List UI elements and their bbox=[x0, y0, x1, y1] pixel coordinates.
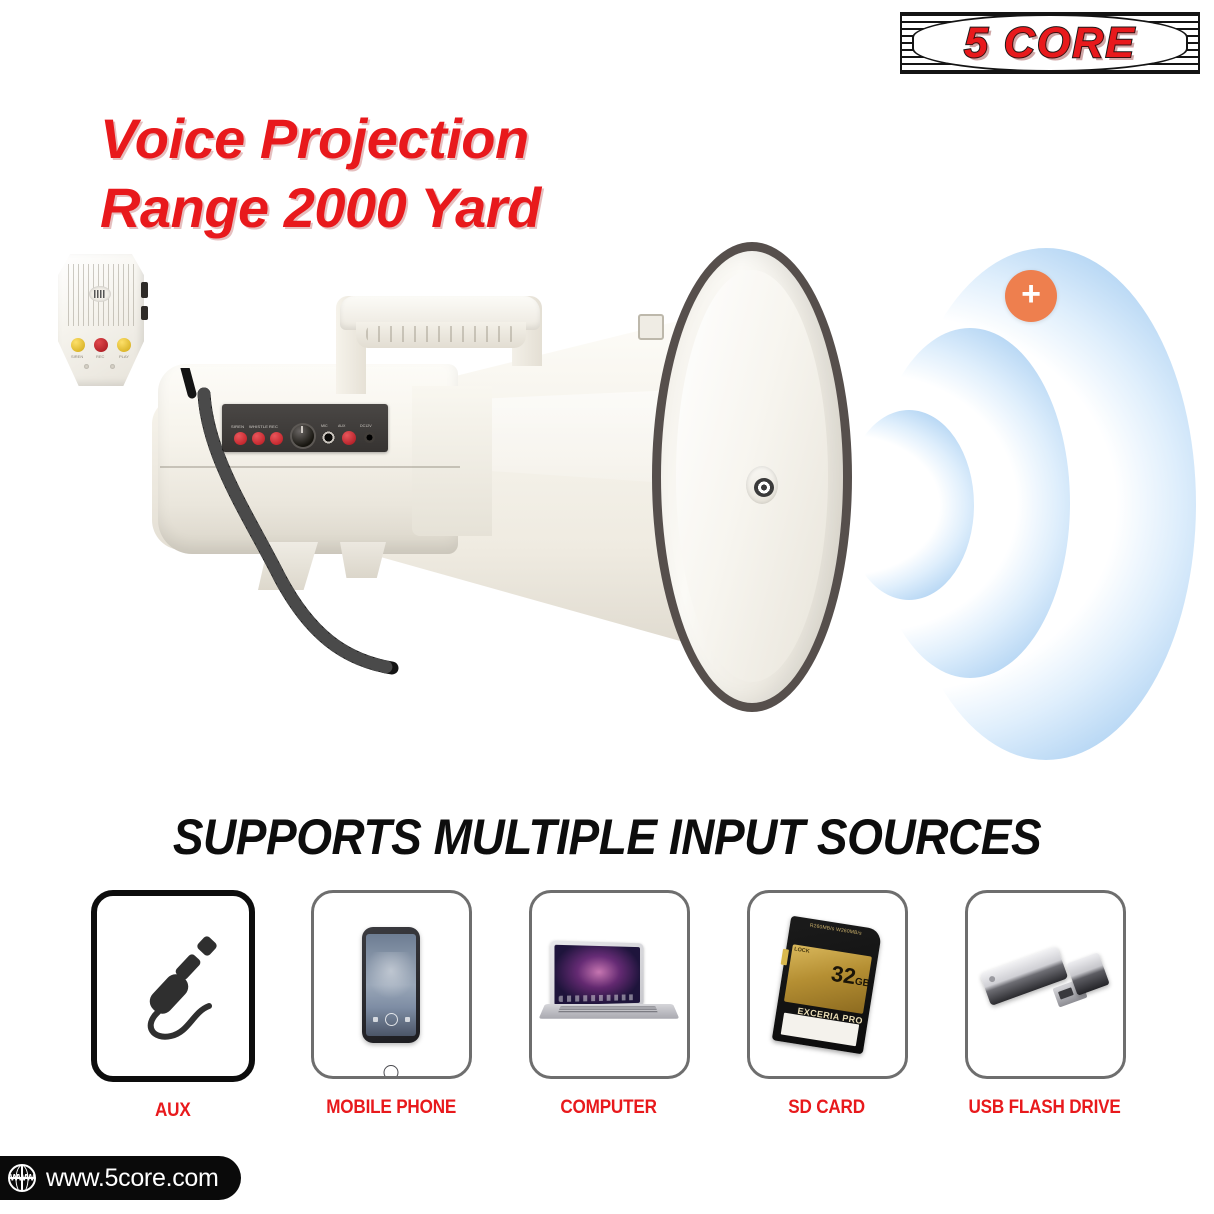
source-label-aux: AUX bbox=[155, 1100, 191, 1122]
aux-jack-icon bbox=[113, 926, 233, 1046]
mic-side-button-2[interactable] bbox=[141, 306, 148, 320]
phone-play-icon bbox=[385, 1013, 398, 1026]
phone-prev-icon bbox=[373, 1017, 378, 1022]
source-item-computer[interactable]: COMPUTER bbox=[514, 890, 704, 1119]
sound-wave-arc-3 bbox=[896, 248, 1196, 760]
source-item-sd-card[interactable]: R260MB/s W260MB/s LOCK 32GB EXCERIA PRO … bbox=[732, 890, 922, 1119]
jack-label-aux: AUX bbox=[338, 424, 345, 428]
input-sources-row: AUX MOBILE PHONE bbox=[78, 890, 1140, 1122]
whistle-button[interactable] bbox=[252, 432, 265, 445]
horn-center-badge-icon bbox=[746, 466, 778, 504]
siren-button[interactable] bbox=[234, 432, 247, 445]
globe-www-text: WWW bbox=[10, 1174, 34, 1183]
megaphone-stand-foot-2 bbox=[340, 542, 386, 578]
volume-knob[interactable] bbox=[292, 425, 314, 447]
jack-label-dc: DC12V bbox=[360, 424, 372, 428]
horn-strap-clip bbox=[638, 314, 664, 340]
source-item-mobile-phone[interactable]: MOBILE PHONE bbox=[296, 890, 486, 1119]
phone-screen bbox=[366, 934, 416, 1036]
usb-flash-drive-icon bbox=[979, 937, 1111, 1033]
computer-icon-box bbox=[529, 890, 690, 1079]
source-label-sd-card: SD CARD bbox=[789, 1097, 866, 1119]
website-banner[interactable]: WWW www.5core.com bbox=[0, 1156, 241, 1200]
mic-label-play: PLAY bbox=[119, 354, 129, 359]
handle-grip bbox=[356, 322, 526, 348]
mobile-phone-icon bbox=[362, 927, 420, 1043]
headline-line-1: Voice Projection bbox=[100, 107, 529, 170]
control-label-siren: SIREN bbox=[231, 424, 244, 429]
megaphone-neck bbox=[412, 386, 492, 536]
brand-logo: 5 CORE bbox=[900, 12, 1200, 74]
mic-indicator-1 bbox=[84, 364, 89, 369]
aux-jack-port[interactable] bbox=[342, 431, 356, 445]
jack-label-mic: MIC bbox=[321, 424, 328, 428]
mic-label-rec: REC bbox=[96, 354, 104, 359]
plus-symbol: + bbox=[1021, 277, 1041, 311]
control-label-rec: REC bbox=[269, 424, 278, 429]
laptop-screen bbox=[554, 944, 640, 1004]
control-panel: SIREN WHISTLE REC MIC AUX DC12V bbox=[222, 404, 388, 452]
source-label-mobile-phone: MOBILE PHONE bbox=[326, 1097, 456, 1119]
sd-card-capacity-unit: GB bbox=[854, 976, 871, 989]
phone-player-controls bbox=[366, 1012, 416, 1028]
logo-brand-text: 5 CORE bbox=[900, 12, 1200, 74]
mic-brand-badge-icon bbox=[89, 286, 111, 302]
plus-icon: + bbox=[1005, 270, 1057, 322]
website-url: www.5core.com bbox=[46, 1164, 219, 1193]
mic-siren-button[interactable] bbox=[71, 338, 85, 352]
source-label-computer: COMPUTER bbox=[561, 1097, 657, 1119]
source-item-usb-flash-drive[interactable]: USB FLASH DRIVE bbox=[950, 890, 1140, 1119]
source-label-usb-flash-drive: USB FLASH DRIVE bbox=[969, 1097, 1121, 1119]
mic-rec-button[interactable] bbox=[94, 338, 108, 352]
sd-card-icon: R260MB/s W260MB/s LOCK 32GB EXCERIA PRO bbox=[772, 915, 883, 1054]
sd-card-icon-box: R260MB/s W260MB/s LOCK 32GB EXCERIA PRO bbox=[747, 890, 908, 1079]
laptop-lid bbox=[550, 940, 643, 1009]
laptop-computer-icon bbox=[545, 942, 673, 1028]
control-label-whistle: WHISTLE bbox=[249, 424, 268, 429]
globe-www-icon: WWW bbox=[8, 1164, 36, 1192]
mic-side-button-1[interactable] bbox=[141, 282, 148, 298]
laptop-base bbox=[539, 1004, 680, 1019]
mic-indicator-2 bbox=[110, 364, 115, 369]
megaphone-body-seam bbox=[160, 466, 460, 468]
source-item-aux[interactable]: AUX bbox=[78, 890, 268, 1122]
section-heading: SUPPORTS MULTIPLE INPUT SOURCES bbox=[49, 808, 1166, 866]
dc-power-port[interactable] bbox=[364, 432, 375, 443]
megaphone-product-image: SIREN WHISTLE REC MIC AUX DC12V bbox=[40, 230, 860, 750]
mobile-phone-icon-box bbox=[311, 890, 472, 1079]
phone-next-icon bbox=[405, 1017, 410, 1022]
laptop-keyboard bbox=[558, 1006, 658, 1013]
usb-flash-drive-icon-box bbox=[965, 890, 1126, 1079]
rec-button[interactable] bbox=[270, 432, 283, 445]
handheld-microphone: SIREN REC PLAY bbox=[58, 254, 144, 386]
mic-play-button[interactable] bbox=[117, 338, 131, 352]
phone-home-button bbox=[384, 1065, 399, 1079]
mic-jack-port[interactable] bbox=[322, 431, 335, 444]
product-marketing-image: Voice Projection Range 2000 Yard 5 CORE … bbox=[0, 0, 1214, 1214]
aux-icon-box bbox=[91, 890, 255, 1082]
mic-label-siren: SIREN bbox=[71, 354, 83, 359]
